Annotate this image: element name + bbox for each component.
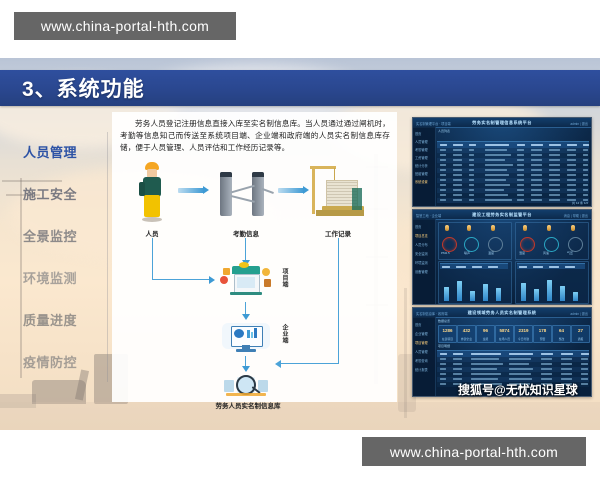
kpi-value: 64 xyxy=(553,328,570,333)
flow-line-person-down xyxy=(152,238,153,280)
kpi-value: 1286 xyxy=(439,328,456,333)
table-row[interactable] xyxy=(437,148,589,153)
gauge-chart xyxy=(488,237,503,252)
dashboard-side-item[interactable]: 环境监测 xyxy=(415,260,428,265)
kpi-label: 整改 xyxy=(553,337,570,341)
flow-line-worklog-down xyxy=(338,238,339,364)
table-row[interactable] xyxy=(437,367,589,372)
dashboard-sidebar: 首页 人员管理 考勤管理 工资管理 统计分析 班组管理 系统设置 xyxy=(413,127,436,206)
table-row[interactable] xyxy=(437,183,589,188)
table-row[interactable] xyxy=(437,357,589,362)
sohu-watermark: 搜狐号@无忧知识星球 xyxy=(458,381,578,398)
table-row[interactable] xyxy=(437,158,589,163)
flow-arrow-head-1 xyxy=(203,186,209,194)
kpi-section-caption: 数据总览 xyxy=(438,319,450,323)
table-row[interactable] xyxy=(437,188,589,193)
dashboard-side-item[interactable]: 首页 xyxy=(415,322,421,327)
dashboard-title: 建设领域劳务人员实名制管理系统 xyxy=(468,310,537,316)
kpi-value: 432 xyxy=(458,328,475,333)
gauge-chart xyxy=(544,237,559,252)
kpi-card[interactable]: 96 班组 xyxy=(476,325,495,343)
top-url-watermark: www.china-portal-hth.com xyxy=(14,12,236,40)
content-card: 劳务人员登记注册信息直接入库至实名制信息库。当人员通过通过闸机时，考勤等信息知己… xyxy=(112,112,397,402)
gauge-caption: 风速 xyxy=(543,251,549,255)
dashboard-corner-right: 消息 | 帮助 | 退出 xyxy=(564,213,588,218)
flow-node-sidelabel-enterprise: 企业端 xyxy=(280,324,289,344)
kpi-value: 96 xyxy=(477,328,494,333)
dashboard-side-item[interactable]: 统计分析 xyxy=(415,163,428,168)
dashboard-inner: 实名制管理平台 · 项目端 劳务实名制管理信息系统平台 admin | 退出 首… xyxy=(413,118,591,206)
bar xyxy=(573,292,578,301)
bar xyxy=(470,291,475,301)
analytics-monitor-icon xyxy=(218,322,274,356)
worker-icon xyxy=(136,162,168,222)
dashboard-corner-left: 实名制信息库 · 政府端 xyxy=(416,311,448,316)
dashboard-title: 建设工程劳务实名制监管平台 xyxy=(472,212,532,218)
table-row[interactable] xyxy=(437,173,589,178)
flow-node-label-database: 劳务人员实名制信息库 xyxy=(198,400,298,410)
dashboard-pagination[interactable]: 共 14 条 1/2 xyxy=(572,201,588,205)
sidebar-item-panoramic-monitoring[interactable]: 全景监控 xyxy=(0,226,100,245)
sidebar-divider xyxy=(107,132,108,382)
dashboard-side-item[interactable]: 人员管理 xyxy=(415,139,428,144)
table-header xyxy=(437,350,589,357)
kpi-value: 27 xyxy=(572,328,589,333)
gauge-chart xyxy=(464,237,479,252)
ground-haze xyxy=(0,402,600,430)
table-row[interactable] xyxy=(437,198,589,203)
kpi-label: 在场人员 xyxy=(496,337,513,341)
gauge-caption: 噪声 xyxy=(464,251,470,255)
person-indicator-icon xyxy=(467,225,471,231)
person-indicator-icon xyxy=(491,225,495,231)
bar-chart-header-left xyxy=(440,263,508,269)
flow-line-attendance-project xyxy=(245,238,246,262)
sidebar-item-epidemic-prevention[interactable]: 疫情防控 xyxy=(0,352,100,371)
dashboard-corner-left: 实名制管理平台 · 项目端 xyxy=(416,121,451,126)
flow-arrow-bar-1 xyxy=(178,188,204,193)
dashboard-corner-left: 智慧工地 · 企业端 xyxy=(416,213,441,218)
table-row[interactable] xyxy=(437,163,589,168)
page-title: 3、系统功能 xyxy=(22,73,145,103)
search-database-icon xyxy=(222,374,270,398)
bar xyxy=(496,288,501,301)
gauge-caption: 气压 xyxy=(567,251,573,255)
bottom-url-watermark: www.china-portal-hth.com xyxy=(362,437,586,466)
dashboard-side-item[interactable]: 企业管理 xyxy=(415,331,428,336)
dashboard-side-item[interactable]: 人员分布 xyxy=(415,242,428,247)
kpi-value: 5874 xyxy=(496,328,513,333)
sidebar-item-construction-safety[interactable]: 施工安全 xyxy=(0,184,100,203)
dashboard-side-item[interactable]: 考勤管理 xyxy=(415,147,428,152)
bar xyxy=(444,287,449,301)
bar xyxy=(457,281,462,301)
flow-diagram: 人员 考勤信息 工作记录 xyxy=(112,158,397,402)
dashboard-screenshot-project[interactable]: 实名制管理平台 · 项目端 劳务实名制管理信息系统平台 admin | 退出 首… xyxy=(412,117,592,207)
table-row[interactable] xyxy=(437,193,589,198)
dashboard-side-item[interactable]: 班组管理 xyxy=(415,171,428,176)
flow-arrow-head-7 xyxy=(242,366,250,372)
turnstile-icon xyxy=(218,172,274,220)
kpi-value: 2319 xyxy=(515,328,532,333)
kpi-label: 在建项目 xyxy=(439,337,456,341)
dashboard-body: 人员列表 共 14 条 1/2 xyxy=(435,127,591,206)
bar xyxy=(534,289,539,301)
kpi-card[interactable]: 432 参建企业 xyxy=(457,325,476,343)
kpi-label: 参建企业 xyxy=(458,337,475,341)
flow-node-label-attendance: 考勤信息 xyxy=(220,228,272,238)
person-indicator-icon xyxy=(547,225,551,231)
dashboard-panel-caption: 人员列表 xyxy=(438,129,450,133)
dashboard-body: PM2.5 噪声 温度 湿度 风速 气压 xyxy=(435,219,591,304)
table-row[interactable] xyxy=(437,362,589,367)
kpi-card[interactable]: 1286 在建项目 xyxy=(438,325,457,343)
dashboard-side-item-selected[interactable]: 系统设置 xyxy=(415,179,428,184)
dashboard-corner-right: admin | 退出 xyxy=(570,311,588,316)
kpi-card[interactable]: 178 预警 xyxy=(533,325,552,343)
kpi-card[interactable]: 64 整改 xyxy=(552,325,571,343)
dashboard-side-item[interactable]: 人员管理 xyxy=(415,349,428,354)
dashboard-sidebar: 首页 项目总览 人员分布 安全监测 环境监测 设备管理 xyxy=(413,219,436,304)
flow-arrow-head-5 xyxy=(275,360,281,368)
flow-line-worklog-left xyxy=(280,363,338,364)
dashboard-side-item[interactable]: 考勤查询 xyxy=(415,358,428,363)
dashboard-side-item[interactable]: 工资管理 xyxy=(415,155,428,160)
person-indicator-icon xyxy=(445,225,449,231)
person-indicator-icon xyxy=(523,225,527,231)
gauge-chart xyxy=(442,237,457,252)
flow-arrow-head-2 xyxy=(303,186,309,194)
flow-node-sidelabel-project: 项目端 xyxy=(280,268,289,288)
flow-arrow-bar-2 xyxy=(278,188,304,193)
dashboard-title: 劳务实名制管理信息系统平台 xyxy=(472,120,532,126)
kpi-label: 预警 xyxy=(534,337,551,341)
dashboard-side-item-selected[interactable]: 项目总览 xyxy=(415,233,428,238)
dashboard-side-item[interactable]: 设备管理 xyxy=(415,269,428,274)
gauge-caption: 温度 xyxy=(488,251,494,255)
kpi-card[interactable]: 27 通报 xyxy=(571,325,590,343)
data-collection-icon xyxy=(220,266,272,300)
bar xyxy=(483,284,488,301)
flow-node-label-worklog: 工作记录 xyxy=(310,228,366,238)
table-row[interactable] xyxy=(437,372,589,377)
kpi-label: 班组 xyxy=(477,337,494,341)
bar xyxy=(521,283,526,301)
bar xyxy=(547,280,552,301)
table-header xyxy=(437,141,589,148)
construction-site-icon xyxy=(308,166,368,222)
gauge-chart xyxy=(520,237,535,252)
dashboard-inner: 智慧工地 · 企业端 建设工程劳务实名制监管平台 消息 | 帮助 | 退出 首页… xyxy=(413,210,591,304)
dashboard-side-item[interactable]: 首页 xyxy=(415,224,421,229)
sidebar-menu: 人员管理 施工安全 全景监控 环境监测 质量进度 疫情防控 xyxy=(0,112,108,402)
dashboard-side-item[interactable]: 首页 xyxy=(415,131,421,136)
dashboard-side-item[interactable]: 统计报表 xyxy=(415,367,428,372)
description-paragraph: 劳务人员登记注册信息直接入库至实名制信息库。当人员通过通过闸机时，考勤等信息知己… xyxy=(120,118,390,153)
kpi-value: 178 xyxy=(534,328,551,333)
dashboard-sidebar: 首页 企业管理 项目管理 人员管理 考勤查询 统计报表 xyxy=(413,317,436,396)
dashboard-side-item-selected[interactable]: 项目管理 xyxy=(415,340,428,345)
table-row[interactable] xyxy=(437,178,589,183)
sidebar-item-environment-monitoring[interactable]: 环境监测 xyxy=(0,268,100,287)
flow-line-person-right xyxy=(152,279,210,280)
kpi-label: 通报 xyxy=(572,337,589,341)
dashboard-screenshot-enterprise[interactable]: 智慧工地 · 企业端 建设工程劳务实名制监管平台 消息 | 帮助 | 退出 首页… xyxy=(412,209,592,305)
gauge-caption: 湿度 xyxy=(519,251,525,255)
bar-chart-header-right xyxy=(517,263,585,269)
dashboard-side-item[interactable]: 安全监测 xyxy=(415,251,428,256)
kpi-card[interactable]: 5874 在场人员 xyxy=(495,325,514,343)
bar xyxy=(560,286,565,301)
table-row[interactable] xyxy=(437,153,589,158)
flow-arrow-head-4 xyxy=(209,276,215,284)
table-row[interactable] xyxy=(437,168,589,173)
person-indicator-icon xyxy=(571,225,575,231)
kpi-card[interactable]: 2319 今日考勤 xyxy=(514,325,533,343)
table-section-caption: 项目明细 xyxy=(438,344,450,348)
gauge-chart xyxy=(568,237,583,252)
flow-arrow-head-6 xyxy=(242,314,250,320)
sidebar-item-personnel-management[interactable]: 人员管理 xyxy=(0,142,100,161)
dashboard-corner-right: admin | 退出 xyxy=(570,121,588,126)
section-title-band: 3、系统功能 xyxy=(0,70,600,106)
gauge-caption: PM2.5 xyxy=(441,251,450,255)
flow-node-label-person: 人员 xyxy=(126,228,178,238)
sidebar-item-quality-progress[interactable]: 质量进度 xyxy=(0,310,100,329)
kpi-label: 今日考勤 xyxy=(515,337,532,341)
